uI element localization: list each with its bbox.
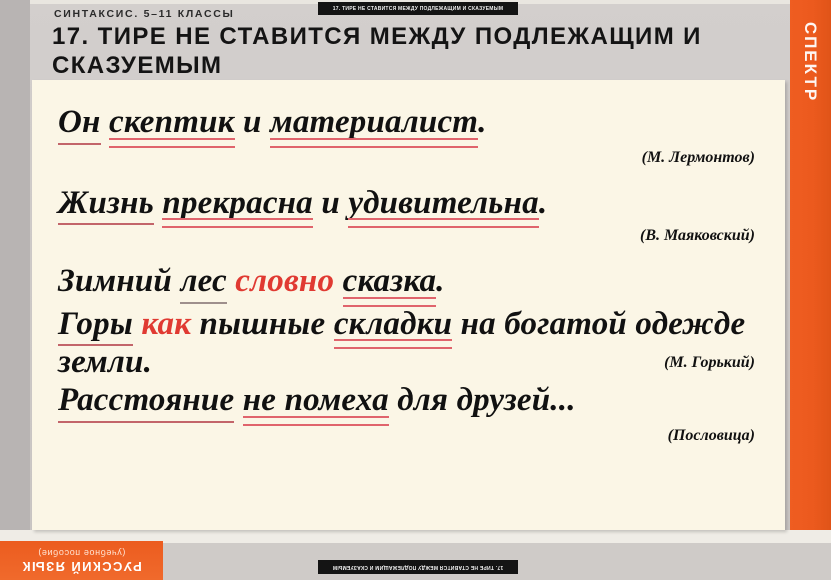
brand-line-1: УЧЕБНОЕ ОБОРУДОВАНИЕ (821, 0, 828, 16)
brand-logo: СПЕКТР (800, 12, 820, 112)
sep (334, 263, 342, 299)
publisher-badge-title: РУССКИЙ ЯЗЫК (21, 559, 142, 573)
period: . (436, 263, 444, 299)
example-2-attribution: (В. Маяковский) (58, 227, 759, 245)
content-card: Он скептик и материалист. (М. Лермонтов)… (32, 80, 785, 530)
conj: и (313, 185, 348, 221)
header: СИНТАКСИС. 5–11 КЛАССЫ 17. ТИРЕ НЕ СТАВИ… (52, 8, 772, 81)
period: . (539, 185, 547, 221)
header-kicker: СИНТАКСИС. 5–11 КЛАССЫ (54, 8, 772, 20)
example-4-attribution: (М. Горький) (58, 354, 759, 372)
period: . (478, 104, 486, 140)
example-5-attribution: (Пословица) (58, 427, 759, 445)
predicate-prekrasna: прекрасна (162, 185, 313, 224)
tail-dlya-druzey: для друзей... (389, 382, 576, 418)
sep (234, 382, 242, 418)
publisher-badge: РУССКИЙ ЯЗЫК (учебное пособие) (0, 541, 163, 580)
example-1-sentence: Он скептик и материалист. (58, 104, 759, 143)
example-3-sentence: Зимний лес словно сказка. (58, 263, 759, 302)
example-5: Расстояние не помеха для друзей... (Посл… (58, 382, 759, 445)
modifier-pyshnye: пышные (191, 306, 334, 342)
subject-rasstoyanie: Расстояние (58, 382, 234, 421)
predicate-skladki: складки (334, 306, 452, 345)
example-1-attribution: (М. Лермонтов) (58, 149, 759, 167)
example-2-sentence: Жизнь прекрасна и удивительна. (58, 185, 759, 224)
subject-on: Он (58, 104, 101, 143)
publisher-badge-subtitle: (учебное пособие) (38, 548, 126, 558)
subject-zhizn: Жизнь (58, 185, 154, 224)
predicate-skeptik: скептик (109, 104, 235, 143)
predicate-materialist: материалист (270, 104, 478, 143)
predicate-udivitelna: удивительна (348, 185, 538, 224)
conj: и (235, 104, 270, 140)
sep (154, 185, 162, 221)
background-left-strip (0, 0, 30, 530)
sep (101, 104, 109, 140)
comparative-slovno: словно (235, 263, 334, 299)
predicate-ne-pomeha: не помеха (243, 382, 389, 421)
subject-gory: Горы (58, 306, 133, 345)
example-1: Он скептик и материалист. (М. Лермонтов) (58, 104, 759, 167)
example-3: Зимний лес словно сказка. (58, 263, 759, 302)
predicate-skazka: сказка (343, 263, 437, 302)
example-5-sentence: Расстояние не помеха для друзей... (58, 382, 759, 421)
poster-root: 17. ТИРЕ НЕ СТАВИТСЯ МЕЖДУ ПОДЛЕЖАЩИМ И … (0, 0, 831, 580)
brand-sidebar: УЧЕБНОЕ ОБОРУДОВАНИЕ ТАБЛИЦЫ ДЛЯ ШКОЛЫ Н… (790, 0, 831, 530)
comparative-kak: как (141, 306, 191, 342)
page-title: 17. ТИРЕ НЕ СТАВИТСЯ МЕЖДУ ПОДЛЕЖАЩИМ И … (52, 22, 752, 81)
example-4: Горы как пышные складки на богатой одежд… (58, 306, 759, 372)
example-2: Жизнь прекрасна и удивительна. (В. Маяко… (58, 185, 759, 246)
subject-les: лес (180, 263, 226, 302)
bottom-title-tab-label: 17. ТИРЕ НЕ СТАВИТСЯ МЕЖДУ ПОДЛЕЖАЩИМ И … (333, 564, 504, 570)
bottom-title-tab: 17. ТИРЕ НЕ СТАВИТСЯ МЕЖДУ ПОДЛЕЖАЩИМ И … (318, 560, 518, 574)
modifier-zimniy: Зимний (58, 263, 180, 299)
